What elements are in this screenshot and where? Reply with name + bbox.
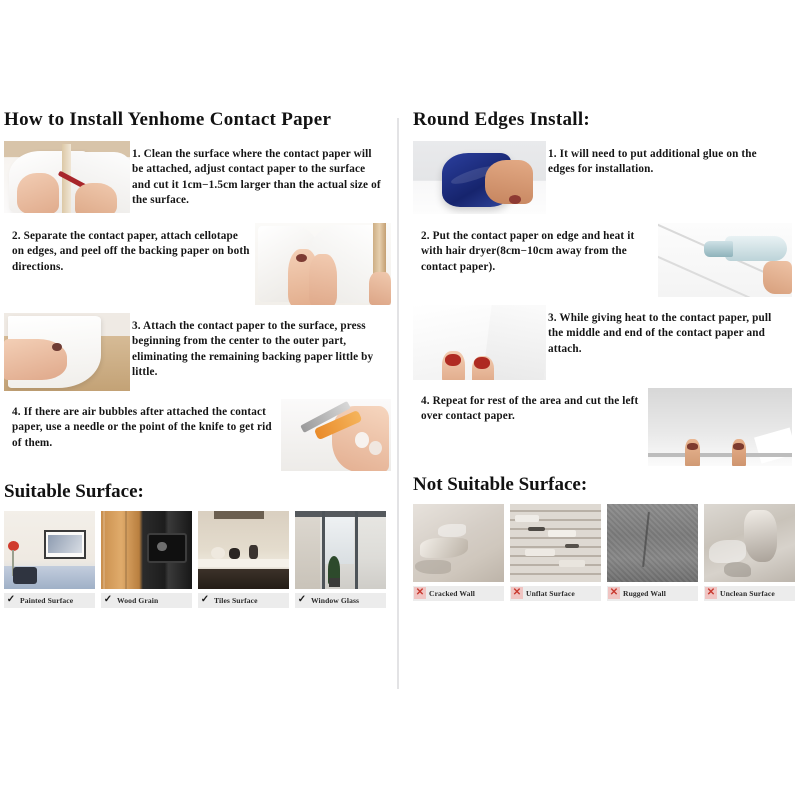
photo-cracked-wall xyxy=(413,504,504,582)
right-column-title: Round Edges Install: xyxy=(413,110,792,131)
photo-window-glass-balcony xyxy=(295,511,386,589)
surface-tile-label: Window Glass xyxy=(311,596,359,605)
surface-tile: ✓ Tiles Surface xyxy=(198,511,289,608)
left-column: How to Install Yenhome Contact Paper 1. … xyxy=(0,110,397,695)
photo-removing-air-bubbles-with-knife xyxy=(281,399,391,471)
surface-tile-caption: ✕ Rugged Wall xyxy=(607,586,698,601)
install-step-3-text: 3. Attach the contact paper to the surfa… xyxy=(130,313,391,381)
photo-pressing-paper-on-surface xyxy=(4,313,130,391)
right-column: Round Edges Install: 1. It will need to … xyxy=(399,110,796,695)
check-icon: ✓ xyxy=(102,594,114,606)
cross-icon: ✕ xyxy=(414,587,426,599)
install-step-4: 4. If there are air bubbles after attach… xyxy=(4,399,391,473)
suitable-surface-title: Suitable Surface: xyxy=(4,481,391,503)
cross-icon: ✕ xyxy=(705,587,717,599)
round-edges-step-1: 1. It will need to put additional glue o… xyxy=(413,141,792,215)
surface-tile: ✕ Unclean Surface xyxy=(704,504,795,601)
photo-peeling-backing-paper xyxy=(255,223,391,305)
surface-tile-caption: ✓ Painted Surface xyxy=(4,593,95,608)
suitable-surface-section: Suitable Surface: ✓ Painted Surface xyxy=(4,481,391,608)
surface-tile-label: Painted Surface xyxy=(20,596,73,605)
surface-tile-label: Unflat Surface xyxy=(526,589,575,598)
surface-tile: ✓ Window Glass xyxy=(295,511,386,608)
surface-tile-label: Tiles Surface xyxy=(214,596,258,605)
surface-tile: ✓ Wood Grain xyxy=(101,511,192,608)
not-suitable-surface-section: Not Suitable Surface: ✕ Cracked Wall xyxy=(413,474,792,601)
round-edges-step-1-text: 1. It will need to put additional glue o… xyxy=(546,141,792,178)
photo-unclean-surface xyxy=(704,504,795,582)
photo-rugged-wall xyxy=(607,504,698,582)
surface-tile-caption: ✓ Tiles Surface xyxy=(198,593,289,608)
surface-tile: ✕ Cracked Wall xyxy=(413,504,504,601)
photo-wood-grain-cabinet xyxy=(101,511,192,589)
two-column-content: How to Install Yenhome Contact Paper 1. … xyxy=(0,110,800,695)
photo-unflat-brick-surface xyxy=(510,504,601,582)
suitable-surface-tiles: ✓ Painted Surface ✓ Woo xyxy=(4,511,391,608)
round-edges-step-2-text: 2. Put the contact paper on edge and hea… xyxy=(413,223,658,275)
round-edges-step-4-text: 4. Repeat for rest of the area and cut t… xyxy=(413,388,648,425)
photo-thumbs-holding-panel-edge xyxy=(648,388,792,466)
photo-painted-wall-living-room xyxy=(4,511,95,589)
surface-tile-label: Rugged Wall xyxy=(623,589,666,598)
not-suitable-surface-tiles: ✕ Cracked Wall xyxy=(413,504,792,601)
install-step-2: 2. Separate the contact paper, attach ce… xyxy=(4,223,391,305)
round-edges-step-3-text: 3. While giving heat to the contact pape… xyxy=(546,305,792,357)
photo-hair-dryer-heating-edge xyxy=(658,223,792,297)
round-edges-step-4: 4. Repeat for rest of the area and cut t… xyxy=(413,388,792,466)
cross-icon: ✕ xyxy=(608,587,620,599)
install-step-1-text: 1. Clean the surface where the contact p… xyxy=(130,141,391,209)
photo-tiled-kitchen-wall xyxy=(198,511,289,589)
surface-tile: ✕ Unflat Surface xyxy=(510,504,601,601)
surface-tile: ✕ Rugged Wall xyxy=(607,504,698,601)
cross-icon: ✕ xyxy=(511,587,523,599)
photo-blue-cloth-wiping-edge xyxy=(413,141,546,214)
surface-tile: ✓ Painted Surface xyxy=(4,511,95,608)
round-edges-step-3: 3. While giving heat to the contact pape… xyxy=(413,305,792,380)
not-suitable-surface-title: Not Suitable Surface: xyxy=(413,474,792,496)
left-column-title: How to Install Yenhome Contact Paper xyxy=(4,110,391,131)
surface-tile-caption: ✓ Wood Grain xyxy=(101,593,192,608)
surface-tile-caption: ✕ Unflat Surface xyxy=(510,586,601,601)
infographic-page: How to Install Yenhome Contact Paper 1. … xyxy=(0,0,800,800)
photo-cutting-contact-paper xyxy=(4,141,130,213)
round-edges-step-2: 2. Put the contact paper on edge and hea… xyxy=(413,223,792,297)
install-step-2-text: 2. Separate the contact paper, attach ce… xyxy=(4,223,255,275)
surface-tile-label: Cracked Wall xyxy=(429,589,475,598)
surface-tile-label: Unclean Surface xyxy=(720,589,775,598)
check-icon: ✓ xyxy=(296,594,308,606)
check-icon: ✓ xyxy=(199,594,211,606)
install-step-4-text: 4. If there are air bubbles after attach… xyxy=(4,399,281,451)
photo-fingers-pulling-contact-paper xyxy=(413,305,546,380)
surface-tile-label: Wood Grain xyxy=(117,596,158,605)
install-step-1: 1. Clean the surface where the contact p… xyxy=(4,141,391,215)
check-icon: ✓ xyxy=(5,594,17,606)
surface-tile-caption: ✓ Window Glass xyxy=(295,593,386,608)
surface-tile-caption: ✕ Unclean Surface xyxy=(704,586,795,601)
install-step-3: 3. Attach the contact paper to the surfa… xyxy=(4,313,391,391)
surface-tile-caption: ✕ Cracked Wall xyxy=(413,586,504,601)
